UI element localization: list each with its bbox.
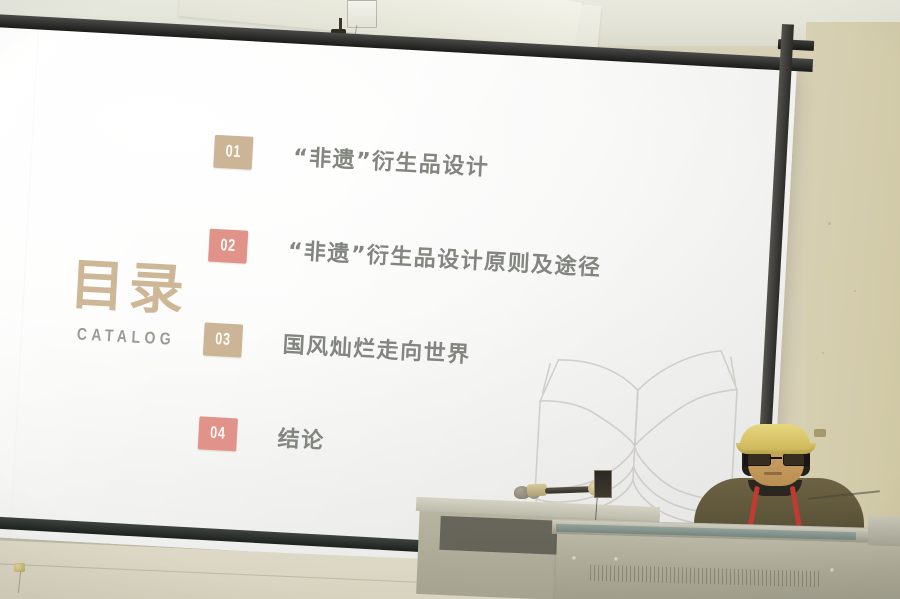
projector-screen: 目录 CATALOG 01 “非遗”衍生品设计 02 “非遗”衍生品设计原则及途… (0, 24, 797, 580)
lectern-screw (572, 556, 577, 561)
slide-heading-english: CATALOG (48, 323, 205, 352)
lectern-screw (830, 568, 835, 573)
toc-item-label: “非遗”衍生品设计原则及途径 (287, 233, 602, 282)
person-cap-logo (814, 429, 826, 437)
toc-item-label: 结论 (277, 421, 326, 456)
toc-number-badge: 02 (208, 228, 248, 263)
toc-item-label: 国风灿烂走向世界 (282, 327, 471, 369)
lectern-screw (614, 557, 619, 562)
toc-item-01[interactable]: 01 “非遗”衍生品设计 (206, 132, 747, 198)
person-mouth (764, 472, 782, 475)
person-cap (740, 424, 810, 450)
person-glasses (744, 453, 808, 464)
toc-item-label: “非遗”衍生品设计 (292, 139, 490, 182)
slide-heading-block: 目录 CATALOG (31, 255, 225, 352)
screenshot-root: 目录 CATALOG 01 “非遗”衍生品设计 02 “非遗”衍生品设计原则及途… (0, 0, 900, 599)
slide-heading-chinese: 目录 (32, 255, 225, 320)
microphone-name-card (594, 470, 612, 498)
toc-number-badge: 03 (203, 322, 243, 357)
toc-number-badge: 04 (198, 416, 238, 451)
presentation-slide: 目录 CATALOG 01 “非遗”衍生品设计 02 “非遗”衍生品设计原则及途… (0, 24, 797, 580)
wall-mounted-control-box (347, 0, 377, 28)
lectern-right-block (868, 515, 900, 546)
toc-number-badge: 01 (213, 134, 253, 169)
toc-item-02[interactable]: 02 “非遗”衍生品设计原则及途径 (201, 226, 742, 292)
